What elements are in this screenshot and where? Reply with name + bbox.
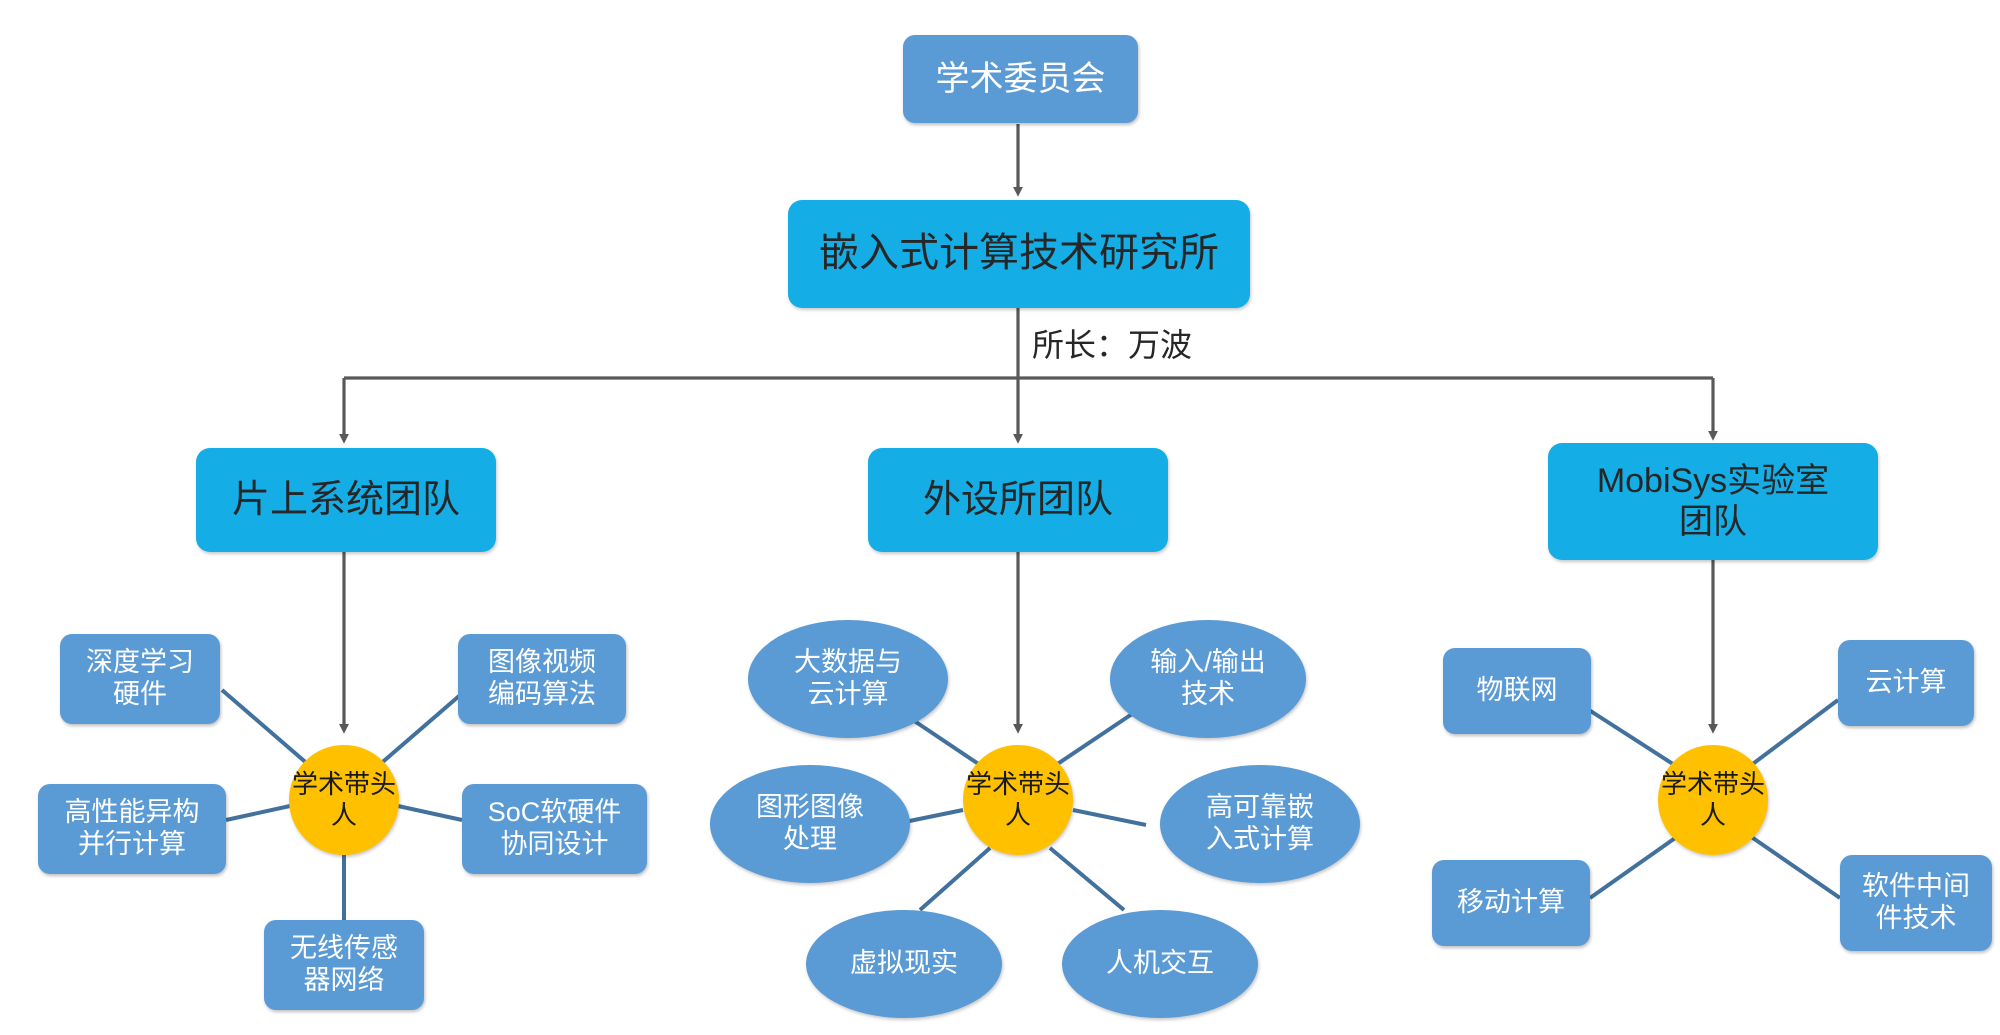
- spoke-1-image-video: [378, 690, 466, 766]
- node-institute[interactable]: 嵌入式计算技术研究所: [788, 200, 1250, 308]
- spoke-3-middleware: [1750, 836, 1840, 898]
- topic-graphics-image-processing[interactable]: 图形图像 处理: [710, 765, 910, 883]
- topic-mobile-computing[interactable]: 移动计算: [1432, 860, 1590, 946]
- spoke-1-soc: [398, 806, 462, 820]
- node-team-mobisys[interactable]: MobiSys实验室 团队: [1548, 443, 1878, 560]
- spoke-2-reliable: [1073, 810, 1146, 825]
- label-director: 所长：万波: [1032, 320, 1192, 366]
- node-team-soc[interactable]: 片上系统团队: [196, 448, 496, 552]
- node-hub-team-mobisys[interactable]: 学术带头人: [1658, 745, 1768, 855]
- topic-reliable-embedded-computing[interactable]: 高可靠嵌 入式计算: [1160, 765, 1360, 883]
- node-hub-team-peripherals[interactable]: 学术带头人: [963, 745, 1073, 855]
- topic-software-middleware[interactable]: 软件中间 件技术: [1840, 855, 1992, 951]
- spoke-3-cloud: [1750, 700, 1838, 766]
- spoke-3-mobile: [1590, 836, 1678, 898]
- topic-wireless-sensor-network[interactable]: 无线传感 器网络: [264, 920, 424, 1010]
- spoke-2-io: [1056, 710, 1138, 765]
- topic-cloud-computing[interactable]: 云计算: [1838, 640, 1974, 726]
- node-academic-committee[interactable]: 学术委员会: [903, 35, 1138, 123]
- node-hub-team-soc[interactable]: 学术带头人: [289, 745, 399, 855]
- topic-human-computer-interaction[interactable]: 人机交互: [1062, 910, 1258, 1018]
- topic-hpc-parallel[interactable]: 高性能异构 并行计算: [38, 784, 226, 874]
- node-team-peripherals[interactable]: 外设所团队: [868, 448, 1168, 552]
- topic-bigdata-cloud[interactable]: 大数据与 云计算: [748, 620, 948, 738]
- spoke-2-vr: [920, 848, 990, 910]
- org-chart-diagram: 学术委员会 嵌入式计算技术研究所 所长：万波 片上系统团队 外设所团队 Mobi…: [0, 0, 2000, 1035]
- spoke-2-hci: [1050, 848, 1124, 910]
- spoke-1-hpc: [226, 806, 290, 820]
- topic-internet-of-things[interactable]: 物联网: [1443, 648, 1591, 734]
- topic-io-technology[interactable]: 输入/输出 技术: [1110, 620, 1306, 738]
- topic-image-video-coding[interactable]: 图像视频 编码算法: [458, 634, 626, 724]
- spoke-3-iot: [1589, 710, 1676, 766]
- topic-soc-codesign[interactable]: SoC软硬件 协同设计: [462, 784, 647, 874]
- topic-virtual-reality[interactable]: 虚拟现实: [806, 910, 1002, 1018]
- topic-deep-learning-hardware[interactable]: 深度学习 硬件: [60, 634, 220, 724]
- spoke-1-deep-learning: [222, 690, 310, 766]
